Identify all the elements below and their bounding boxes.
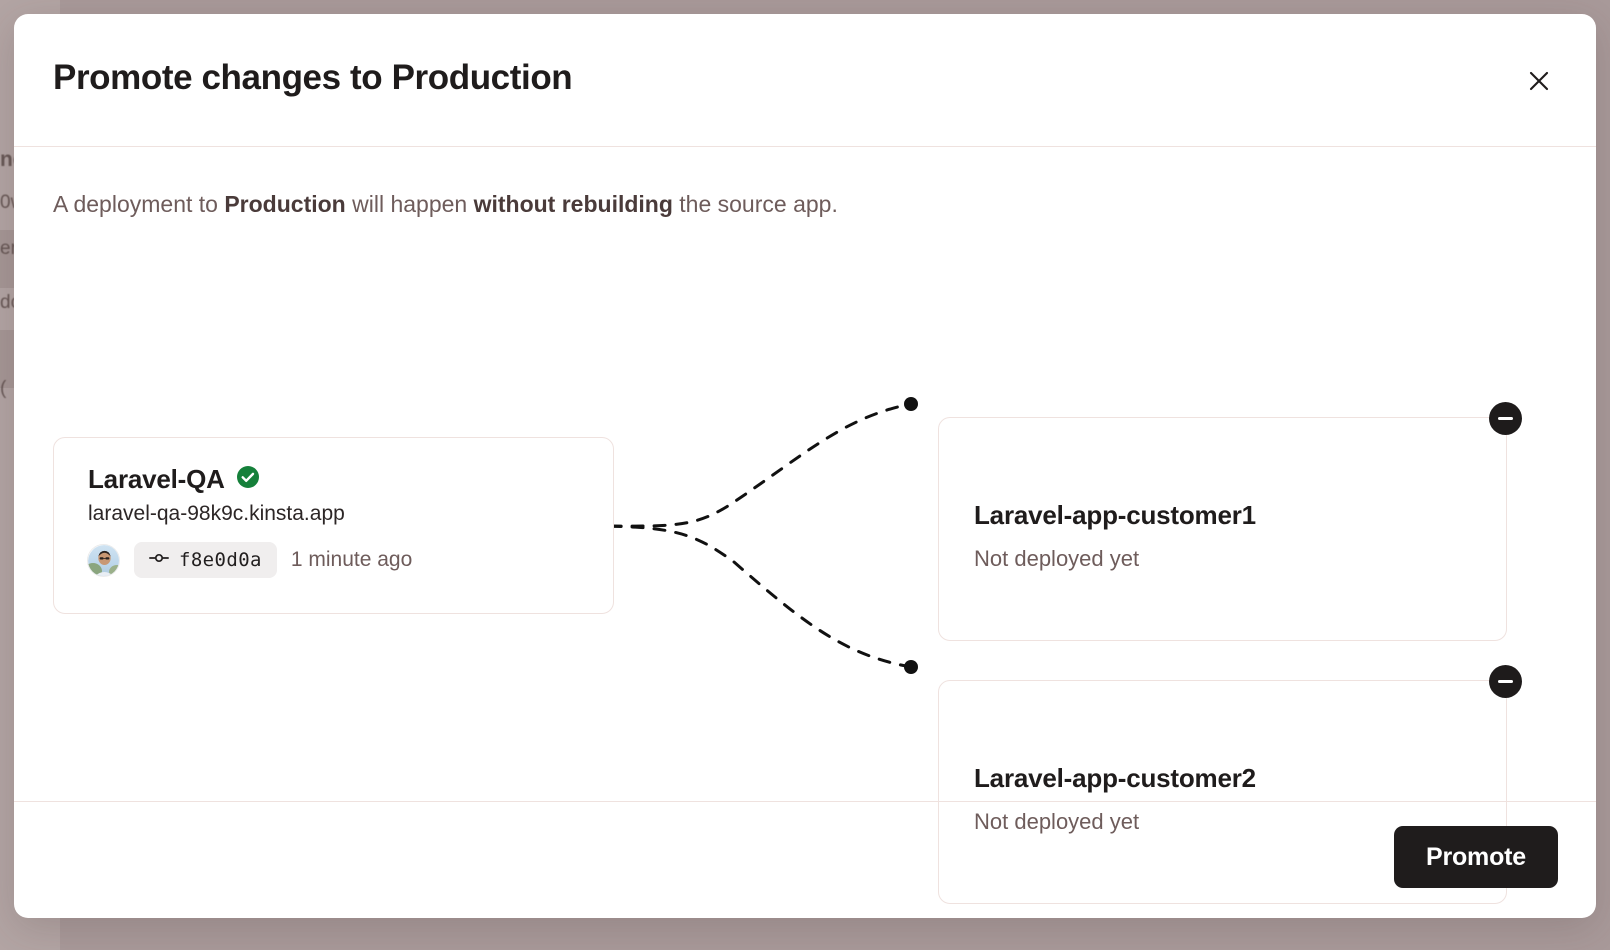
subtitle-middle: will happen xyxy=(346,191,474,217)
source-app-meta: f8e0d0a 1 minute ago xyxy=(87,542,412,578)
dialog-subtitle: A deployment to Production will happen w… xyxy=(53,191,838,218)
dialog-body: A deployment to Production will happen w… xyxy=(14,147,1596,801)
dialog-footer: Promote xyxy=(14,801,1596,918)
edge-target-node-2 xyxy=(904,660,918,674)
subtitle-production: Production xyxy=(224,191,345,217)
promote-button[interactable]: Promote xyxy=(1394,826,1558,888)
commit-hash: f8e0d0a xyxy=(179,549,262,571)
page-title: Promote changes to Production xyxy=(53,58,572,98)
source-app-url: laravel-qa-98k9c.kinsta.app xyxy=(88,502,345,526)
commit-chip[interactable]: f8e0d0a xyxy=(134,542,277,578)
verified-check-icon xyxy=(236,465,260,494)
close-button[interactable] xyxy=(1520,62,1558,100)
source-app-name: Laravel-QA xyxy=(88,464,225,495)
dialog-header: Promote changes to Production xyxy=(14,14,1596,147)
target-app-status: Not deployed yet xyxy=(974,546,1139,572)
source-app-name-row: Laravel-QA xyxy=(88,464,260,495)
promotion-graph: Laravel-QA laravel-qa-98k9c.kinsta.app xyxy=(14,237,1596,797)
target-app-name: Laravel-app-customer2 xyxy=(974,763,1256,794)
avatar xyxy=(87,544,120,577)
remove-target-button-customer2[interactable] xyxy=(1489,665,1522,698)
minus-circle-icon xyxy=(1498,417,1513,420)
minus-circle-icon xyxy=(1498,680,1513,683)
subtitle-prefix: A deployment to xyxy=(53,191,224,217)
target-app-card-customer1[interactable]: Laravel-app-customer1 Not deployed yet xyxy=(938,417,1507,641)
edge-target-node-1 xyxy=(904,397,918,411)
subtitle-without-rebuilding: without rebuilding xyxy=(474,191,673,217)
edge-to-customer1 xyxy=(588,404,911,526)
target-app-name: Laravel-app-customer1 xyxy=(974,500,1256,531)
git-commit-icon xyxy=(149,551,169,570)
source-app-card[interactable]: Laravel-QA laravel-qa-98k9c.kinsta.app xyxy=(53,437,614,614)
promote-changes-dialog: Promote changes to Production A deployme… xyxy=(14,14,1596,918)
edge-to-customer2 xyxy=(588,526,911,667)
close-icon xyxy=(1526,68,1552,94)
subtitle-suffix: the source app. xyxy=(673,191,838,217)
deploy-timestamp: 1 minute ago xyxy=(291,548,412,572)
remove-target-button-customer1[interactable] xyxy=(1489,402,1522,435)
